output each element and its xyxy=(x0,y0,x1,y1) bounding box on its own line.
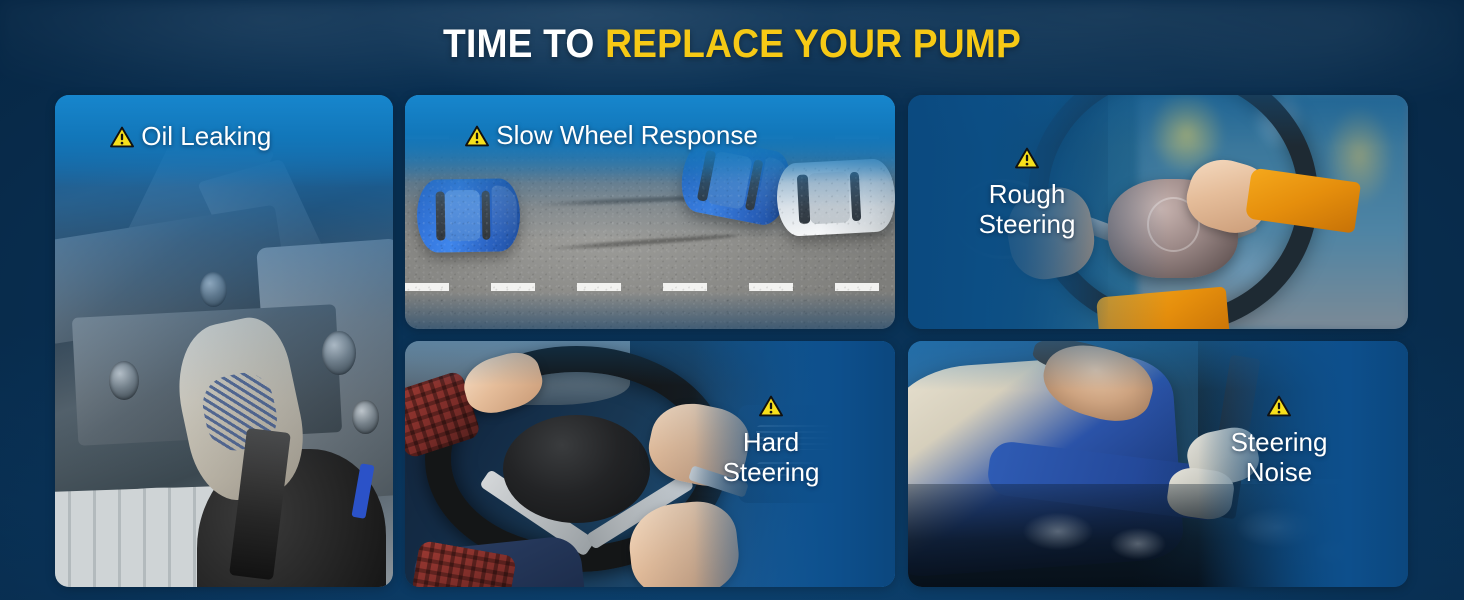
page-title: TIME TO REPLACE YOUR PUMP xyxy=(51,22,1413,67)
card-label-line-1: Rough xyxy=(989,179,1066,209)
warning-triangle-icon xyxy=(936,145,1118,175)
card-label-slow-wheel-response: Slow Wheel Response xyxy=(465,120,758,153)
warning-triangle-icon xyxy=(110,124,134,154)
card-label-rough-steering: Rough Steering xyxy=(936,145,1118,239)
card-steering-noise[interactable]: Steering Noise xyxy=(908,341,1408,587)
card-label-text: Oil Leaking xyxy=(141,121,271,151)
card-label-line-2: Steering xyxy=(723,457,820,487)
card-label-hard-steering: Hard Steering xyxy=(671,393,871,487)
card-label-steering-noise: Steering Noise xyxy=(1174,393,1384,487)
card-label-oil-leaking: Oil Leaking xyxy=(110,121,271,154)
card-label-text: Slow Wheel Response xyxy=(496,120,758,150)
card-label-line-1: Hard xyxy=(743,427,799,457)
card-slow-wheel-response[interactable]: Slow Wheel Response xyxy=(405,95,895,329)
symptom-card-grid: Oil Leaking xyxy=(55,95,1408,587)
card-label-line-2: Noise xyxy=(1246,457,1312,487)
page-title-white-part: TIME TO xyxy=(443,22,605,66)
card-rough-steering[interactable]: Rough Steering xyxy=(908,95,1408,329)
card-label-line-1: Steering xyxy=(1231,427,1328,457)
card-hard-steering[interactable]: Hard Steering xyxy=(405,341,895,587)
warning-triangle-icon xyxy=(671,393,871,423)
card-label-line-2: Steering xyxy=(979,209,1076,239)
warning-triangle-icon xyxy=(465,123,489,153)
warning-triangle-icon xyxy=(1174,393,1384,423)
page-title-gold-part: REPLACE YOUR PUMP xyxy=(605,22,1021,66)
card-oil-leaking[interactable]: Oil Leaking xyxy=(55,95,393,587)
